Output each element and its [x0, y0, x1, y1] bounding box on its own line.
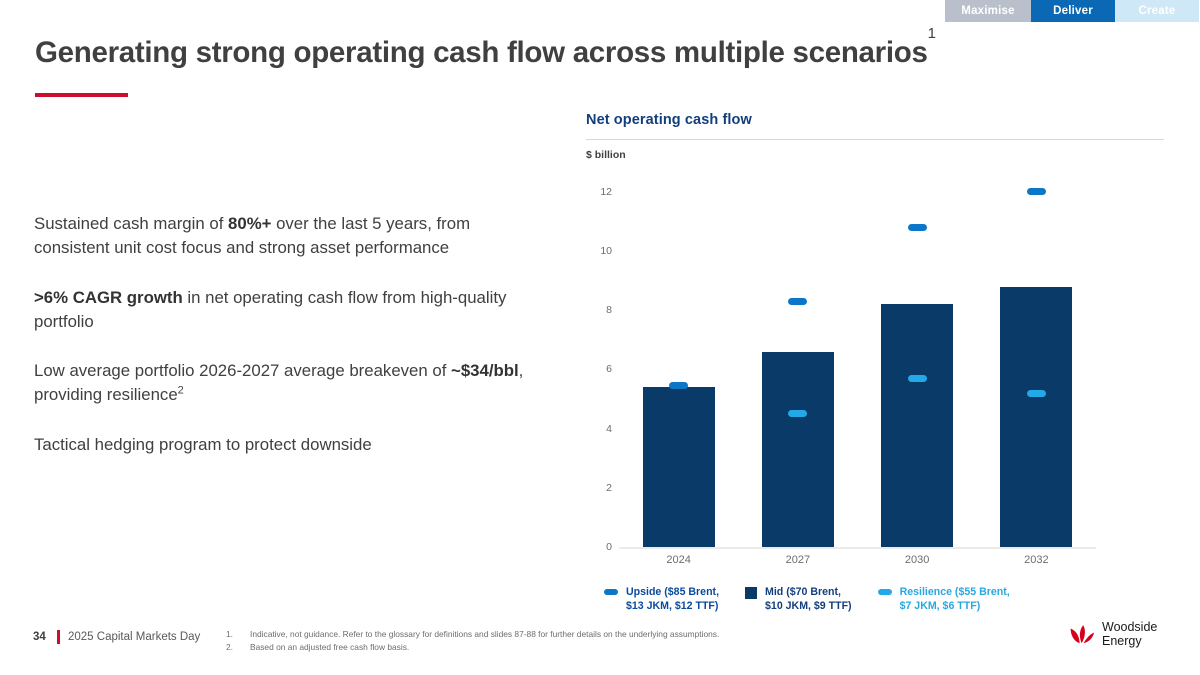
- tab-maximise[interactable]: Maximise: [945, 0, 1031, 22]
- marker-resilience-2027[interactable]: [788, 410, 807, 417]
- key-point-cagr-growth: >6% CAGR growth in net operating cash fl…: [34, 286, 544, 334]
- legend-item-mid: Mid ($70 Brent, $10 JKM, $9 TTF): [745, 586, 852, 614]
- logo-line-2: Energy: [1102, 635, 1157, 649]
- footnote-number: 1.: [226, 628, 250, 641]
- woodside-flame-icon: [1069, 622, 1095, 648]
- key-points-list: Sustained cash margin of 80%+ over the l…: [34, 212, 544, 483]
- footnotes: 1. Indicative, not guidance. Refer to th…: [226, 628, 786, 654]
- net-operating-cash-flow-chart: 024681012 2024202720302032: [586, 180, 1166, 580]
- footnote-marker: 2: [178, 385, 184, 397]
- legend-item-resilience: Resilience ($55 Brent, $7 JKM, $6 TTF): [878, 586, 1010, 614]
- x-axis-tick-label: 2024: [643, 554, 715, 566]
- page-title: Generating strong operating cash flow ac…: [35, 36, 936, 70]
- text-run-bold: 80%+: [228, 214, 271, 233]
- tab-deliver[interactable]: Deliver: [1031, 0, 1115, 22]
- footnote-number: 2.: [226, 641, 250, 654]
- y-axis-tick-label: 0: [586, 541, 612, 553]
- text-run: Low average portfolio 2026-2027 average …: [34, 361, 451, 380]
- x-axis-tick-label: 2027: [762, 554, 834, 566]
- bar-mid-2027[interactable]: [762, 352, 834, 547]
- legend-label: Mid ($70 Brent, $10 JKM, $9 TTF): [765, 586, 852, 614]
- x-axis-tick-label: 2030: [881, 554, 953, 566]
- y-axis-tick-label: 10: [586, 245, 612, 257]
- marker-upside-2030[interactable]: [908, 224, 927, 231]
- plot-area: [619, 180, 1096, 547]
- page-number: 34: [33, 631, 46, 643]
- chart-title: Net operating cash flow: [586, 112, 1166, 128]
- footnote-row: 2. Based on an adjusted free cash flow b…: [226, 641, 786, 654]
- marker-resilience-2032[interactable]: [1027, 390, 1046, 397]
- x-axis-tick-label: 2032: [1000, 554, 1072, 566]
- logo-line-1: Woodside: [1102, 621, 1157, 635]
- footer-divider: [57, 630, 60, 644]
- legend-dash-icon: [878, 589, 892, 595]
- marker-upside-2027[interactable]: [788, 298, 807, 305]
- page-title-footnote-marker: 1: [928, 25, 936, 42]
- text-run: Sustained cash margin of: [34, 214, 228, 233]
- bar-mid-2024[interactable]: [643, 387, 715, 547]
- bar-group-2032: [1000, 180, 1072, 547]
- y-axis-tick-label: 2: [586, 482, 612, 494]
- text-run-bold: ~$34/bbl: [451, 361, 519, 380]
- tab-create[interactable]: Create: [1115, 0, 1199, 22]
- key-point-breakeven: Low average portfolio 2026-2027 average …: [34, 359, 544, 407]
- key-point-hedging: Tactical hedging program to protect down…: [34, 433, 544, 457]
- logo-wordmark: Woodside Energy: [1102, 621, 1157, 648]
- marker-upside-2032[interactable]: [1027, 188, 1046, 195]
- x-axis-baseline: [619, 547, 1096, 549]
- woodside-energy-logo: Woodside Energy: [1069, 621, 1157, 648]
- legend-square-icon: [745, 587, 757, 599]
- footnote-row: 1. Indicative, not guidance. Refer to th…: [226, 628, 786, 641]
- key-point-cash-margin: Sustained cash margin of 80%+ over the l…: [34, 212, 544, 260]
- chart-divider: [586, 139, 1164, 140]
- text-run-bold: >6% CAGR growth: [34, 288, 183, 307]
- footnote-text: Based on an adjusted free cash flow basi…: [250, 641, 409, 654]
- bar-mid-2032[interactable]: [1000, 287, 1072, 547]
- marker-resilience-2030[interactable]: [908, 375, 927, 382]
- scenario-tab-group: Maximise Deliver Create: [945, 0, 1199, 22]
- title-accent-rule: [35, 93, 128, 97]
- chart-legend: Upside ($85 Brent, $13 JKM, $12 TTF) Mid…: [604, 586, 1036, 614]
- legend-dash-icon: [604, 589, 618, 595]
- bar-group-2024: [643, 180, 715, 547]
- y-axis-tick-label: 12: [586, 186, 612, 198]
- bar-mid-2030[interactable]: [881, 304, 953, 547]
- y-axis-tick-label: 8: [586, 304, 612, 316]
- chart-header: Net operating cash flow $ billion: [586, 112, 1166, 161]
- legend-label: Upside ($85 Brent, $13 JKM, $12 TTF): [626, 586, 719, 614]
- bar-group-2030: [881, 180, 953, 547]
- legend-label: Resilience ($55 Brent, $7 JKM, $6 TTF): [900, 586, 1010, 614]
- page-title-text: Generating strong operating cash flow ac…: [35, 36, 928, 69]
- chart-unit-label: $ billion: [586, 149, 1166, 161]
- bar-group-2027: [762, 180, 834, 547]
- legend-item-upside: Upside ($85 Brent, $13 JKM, $12 TTF): [604, 586, 719, 614]
- marker-upside-2024[interactable]: [669, 382, 688, 389]
- y-axis-tick-label: 6: [586, 363, 612, 375]
- deck-name: 2025 Capital Markets Day: [68, 631, 200, 643]
- text-run: Tactical hedging program to protect down…: [34, 435, 372, 454]
- footnote-text: Indicative, not guidance. Refer to the g…: [250, 628, 719, 641]
- y-axis-tick-label: 4: [586, 423, 612, 435]
